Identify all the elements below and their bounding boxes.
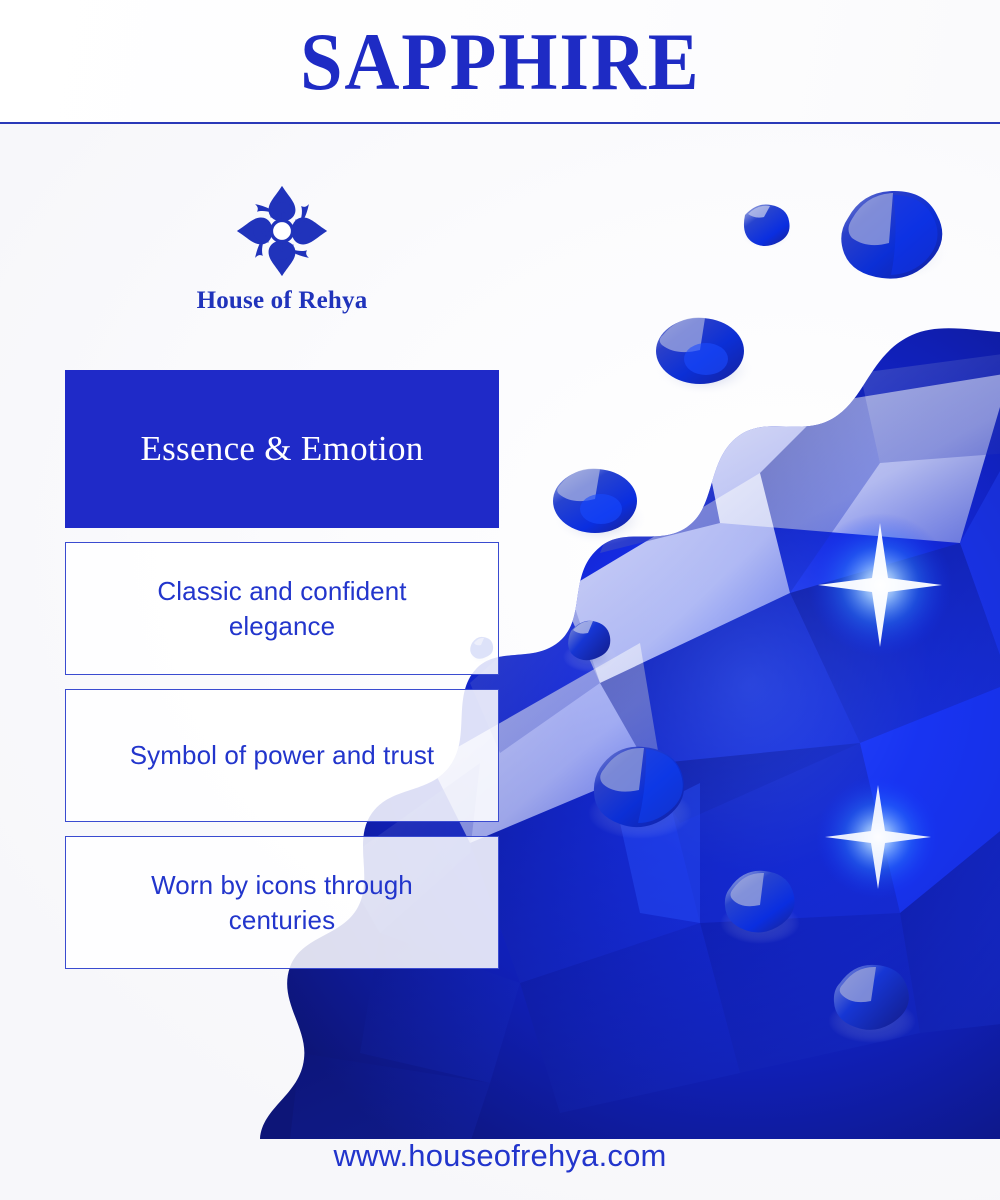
brand-name: House of Rehya [197, 287, 368, 315]
poster-footer: www.houseofrehya.com [0, 1138, 1000, 1174]
feature-card: Worn by icons through centuries [65, 836, 499, 969]
feature-card: Classic and confident elegance [65, 542, 499, 675]
small-sapphire-2 [837, 191, 949, 283]
feature-card: Symbol of power and trust [65, 689, 499, 822]
feature-label: Symbol of power and trust [130, 738, 435, 772]
website-url[interactable]: www.houseofrehya.com [333, 1138, 666, 1173]
header-divider [0, 122, 1000, 124]
sapphire-poster: SAPPHIRE [0, 0, 1000, 1200]
page-title: SAPPHIRE [300, 21, 700, 103]
small-sapphire-1 [740, 204, 792, 250]
headline-label: Essence & Emotion [140, 429, 423, 469]
small-sapphire-3 [655, 318, 755, 396]
headline-banner: Essence & Emotion [65, 370, 499, 528]
feature-label: Classic and confident elegance [117, 574, 447, 643]
sparkle-bottom [816, 775, 940, 899]
quatrefoil-medallion-icon [234, 183, 330, 279]
poster-header: SAPPHIRE [0, 0, 1000, 123]
sparkle-top [808, 513, 952, 657]
small-sapphire-4 [552, 469, 648, 545]
content-column: House of Rehya Essence & Emotion Classic… [65, 123, 499, 969]
feature-label: Worn by icons through centuries [117, 868, 447, 937]
brand-block: House of Rehya [65, 123, 499, 315]
